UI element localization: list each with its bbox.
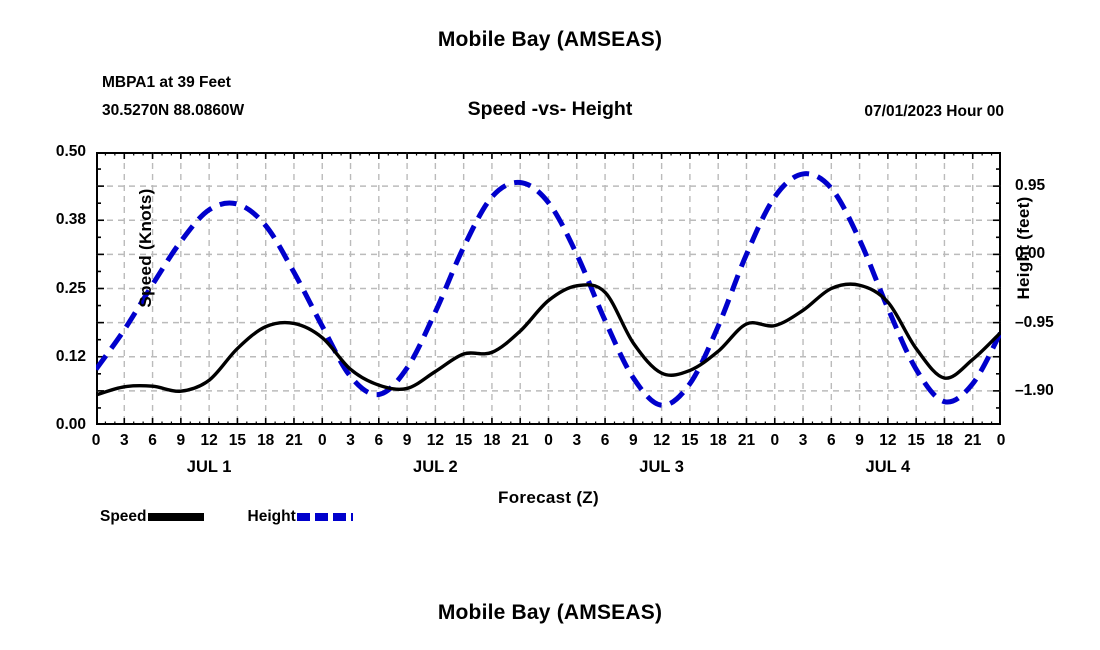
- legend-label-speed: Speed: [100, 509, 147, 525]
- day-label: JUL 1: [149, 459, 269, 476]
- legend-item-speed: Speed: [100, 509, 204, 525]
- day-label: JUL 3: [602, 459, 722, 476]
- legend-label-height: Height: [248, 509, 296, 525]
- left-axis-title: Speed (Knots): [136, 148, 156, 348]
- day-label: JUL 2: [375, 459, 495, 476]
- x-tick-label: 0: [981, 433, 1021, 449]
- legend-swatch-height-line: [297, 513, 353, 521]
- legend-swatch-speed-line: [148, 513, 204, 521]
- chart-page: Mobile Bay (AMSEAS) MBPA1 at 39 Feet 30.…: [0, 0, 1100, 650]
- right-tick-label: –0.95: [1015, 315, 1095, 331]
- forecast-datetime-label: 07/01/2023 Hour 00: [864, 103, 1004, 121]
- station-label: MBPA1 at 39 Feet: [102, 74, 231, 92]
- plot-area: Speed (Knots) Height (feet) 0.500.380.25…: [96, 152, 1001, 425]
- left-tick-label: 0.00: [20, 417, 86, 433]
- x-axis-title: Forecast (Z): [96, 488, 1001, 508]
- day-label: JUL 4: [828, 459, 948, 476]
- page-title: Mobile Bay (AMSEAS): [0, 28, 1100, 52]
- left-tick-label: 0.38: [20, 212, 86, 228]
- legend-spacer: [204, 516, 248, 517]
- legend: Speed Height: [100, 509, 353, 525]
- left-tick-label: 0.25: [20, 281, 86, 297]
- right-tick-label: 0.95: [1015, 178, 1095, 194]
- legend-item-height: Height: [248, 509, 353, 525]
- left-tick-label: 0.50: [20, 144, 86, 160]
- footer-title: Mobile Bay (AMSEAS): [0, 601, 1100, 625]
- plot-canvas: [96, 152, 1001, 425]
- left-tick-label: 0.12: [20, 349, 86, 365]
- right-tick-label: 0.00: [1015, 246, 1095, 262]
- right-tick-label: –1.90: [1015, 383, 1095, 399]
